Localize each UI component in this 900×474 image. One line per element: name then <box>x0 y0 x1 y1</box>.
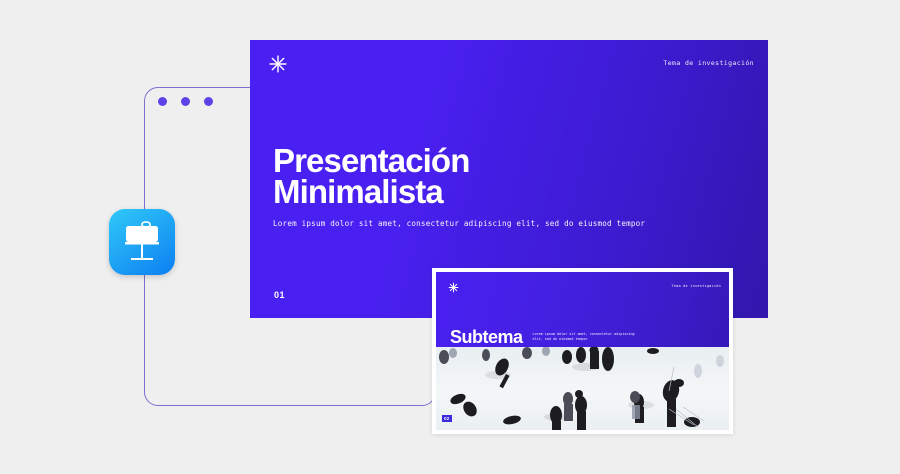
slide-title-block: Presentación Minimalista Lorem ipsum dol… <box>273 145 645 228</box>
asterisk-icon <box>448 282 459 293</box>
window-dot-2[interactable] <box>181 97 190 106</box>
podium-icon <box>109 209 175 275</box>
crowd-photo <box>436 347 729 430</box>
slide-sub-page-number: 02 <box>442 415 452 422</box>
window-controls <box>158 97 213 106</box>
presentation-preview-stage: Tema de investigación Presentación Minim… <box>0 0 900 474</box>
slide-subtitle: Lorem ipsum dolor sit amet, consectetur … <box>273 219 645 228</box>
slide-sub-frame[interactable]: Tema de investigación Subtema Lorem ipsu… <box>432 268 733 434</box>
slide-sub-title-block: Subtema Lorem ipsum dolor sit amet, cons… <box>450 328 645 346</box>
asterisk-icon <box>268 54 288 74</box>
slide-sub-body: Lorem ipsum dolor sit amet, consectetur … <box>533 332 645 342</box>
slide-sub-title: Subtema <box>450 328 523 346</box>
window-dot-1[interactable] <box>158 97 167 106</box>
slide-title-line-1: Presentación <box>273 145 645 176</box>
window-dot-3[interactable] <box>204 97 213 106</box>
slide-sub-header-label: Tema de investigación <box>671 284 721 288</box>
slide-sub-photo: 02 <box>436 347 729 430</box>
slide-page-number: 01 <box>274 290 285 300</box>
slide-header-label: Tema de investigación <box>663 59 754 67</box>
slide-title-line-2: Minimalista <box>273 176 645 207</box>
keynote-app-icon[interactable] <box>109 209 175 275</box>
slide-sub[interactable]: Tema de investigación Subtema Lorem ipsu… <box>436 272 729 430</box>
